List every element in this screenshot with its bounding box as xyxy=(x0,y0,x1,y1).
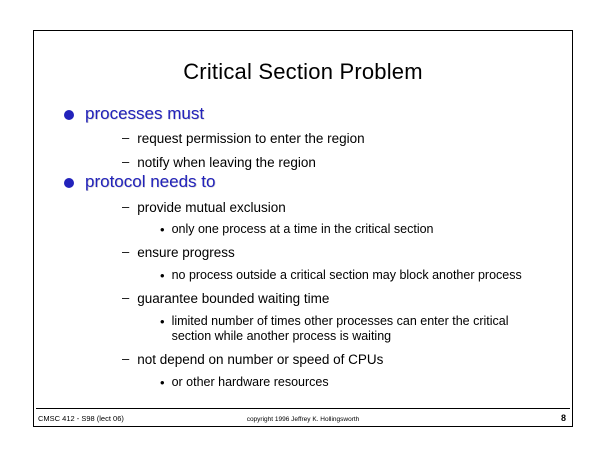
bullet-level2: – notify when leaving the region xyxy=(122,154,554,172)
bullet-level3-label: only one process at a time in the critic… xyxy=(172,222,434,238)
bullet-level3-label: or other hardware resources xyxy=(172,375,329,391)
bullet-disc-icon xyxy=(64,178,74,188)
bullet-level2-label: notify when leaving the region xyxy=(137,154,316,172)
dash-icon: – xyxy=(122,199,129,216)
bullet-level2-label: not depend on number or speed of CPUs xyxy=(137,351,383,369)
bullet-level2-label: ensure progress xyxy=(137,244,235,262)
slide: Critical Section Problem processes must … xyxy=(33,30,573,427)
bullet-level3: • no process outside a critical section … xyxy=(160,268,554,284)
bullet-level2: – provide mutual exclusion xyxy=(122,199,554,217)
bullet-level2: – not depend on number or speed of CPUs xyxy=(122,351,554,369)
bullet-level3-label: no process outside a critical section ma… xyxy=(172,268,522,284)
page-title: Critical Section Problem xyxy=(34,59,572,85)
bullet-level2: – ensure progress xyxy=(122,244,554,262)
slide-body: processes must – request permission to e… xyxy=(64,103,554,391)
bullet-level1: processes must xyxy=(64,103,554,124)
bullet-level2: – guarantee bounded waiting time xyxy=(122,290,554,308)
footer-copyright: copyright 1996 Jeffrey K. Hollingsworth xyxy=(34,416,572,423)
bullet-level2: – request permission to enter the region xyxy=(122,130,554,148)
dash-icon: – xyxy=(122,154,129,171)
bullet-level1-label: processes must xyxy=(85,103,204,124)
bullet-level1-label: protocol needs to xyxy=(85,171,215,192)
bullet-level2-label: provide mutual exclusion xyxy=(137,199,286,217)
dash-icon: – xyxy=(122,290,129,307)
dash-icon: – xyxy=(122,244,129,261)
bullet-level3: • only one process at a time in the crit… xyxy=(160,222,554,238)
bullet-level2-label: guarantee bounded waiting time xyxy=(137,290,329,308)
bullet-level1: protocol needs to xyxy=(64,171,554,192)
footer-divider xyxy=(36,408,570,409)
bullet-level3: • limited number of times other processe… xyxy=(160,314,554,345)
bullet-disc-icon xyxy=(64,110,74,120)
dash-icon: – xyxy=(122,351,129,368)
bullet-level2-label: request permission to enter the region xyxy=(137,130,364,148)
bullet-dot-icon: • xyxy=(160,268,165,284)
bullet-dot-icon: • xyxy=(160,375,165,391)
footer-page-number: 8 xyxy=(561,413,566,423)
bullet-level3: • or other hardware resources xyxy=(160,375,554,391)
slide-footer: CMSC 412 - S98 (lect 06) copyright 1996 … xyxy=(34,409,572,423)
bullet-dot-icon: • xyxy=(160,222,165,238)
dash-icon: – xyxy=(122,130,129,147)
bullet-dot-icon: • xyxy=(160,314,165,330)
bullet-level3-label: limited number of times other processes … xyxy=(172,314,542,345)
